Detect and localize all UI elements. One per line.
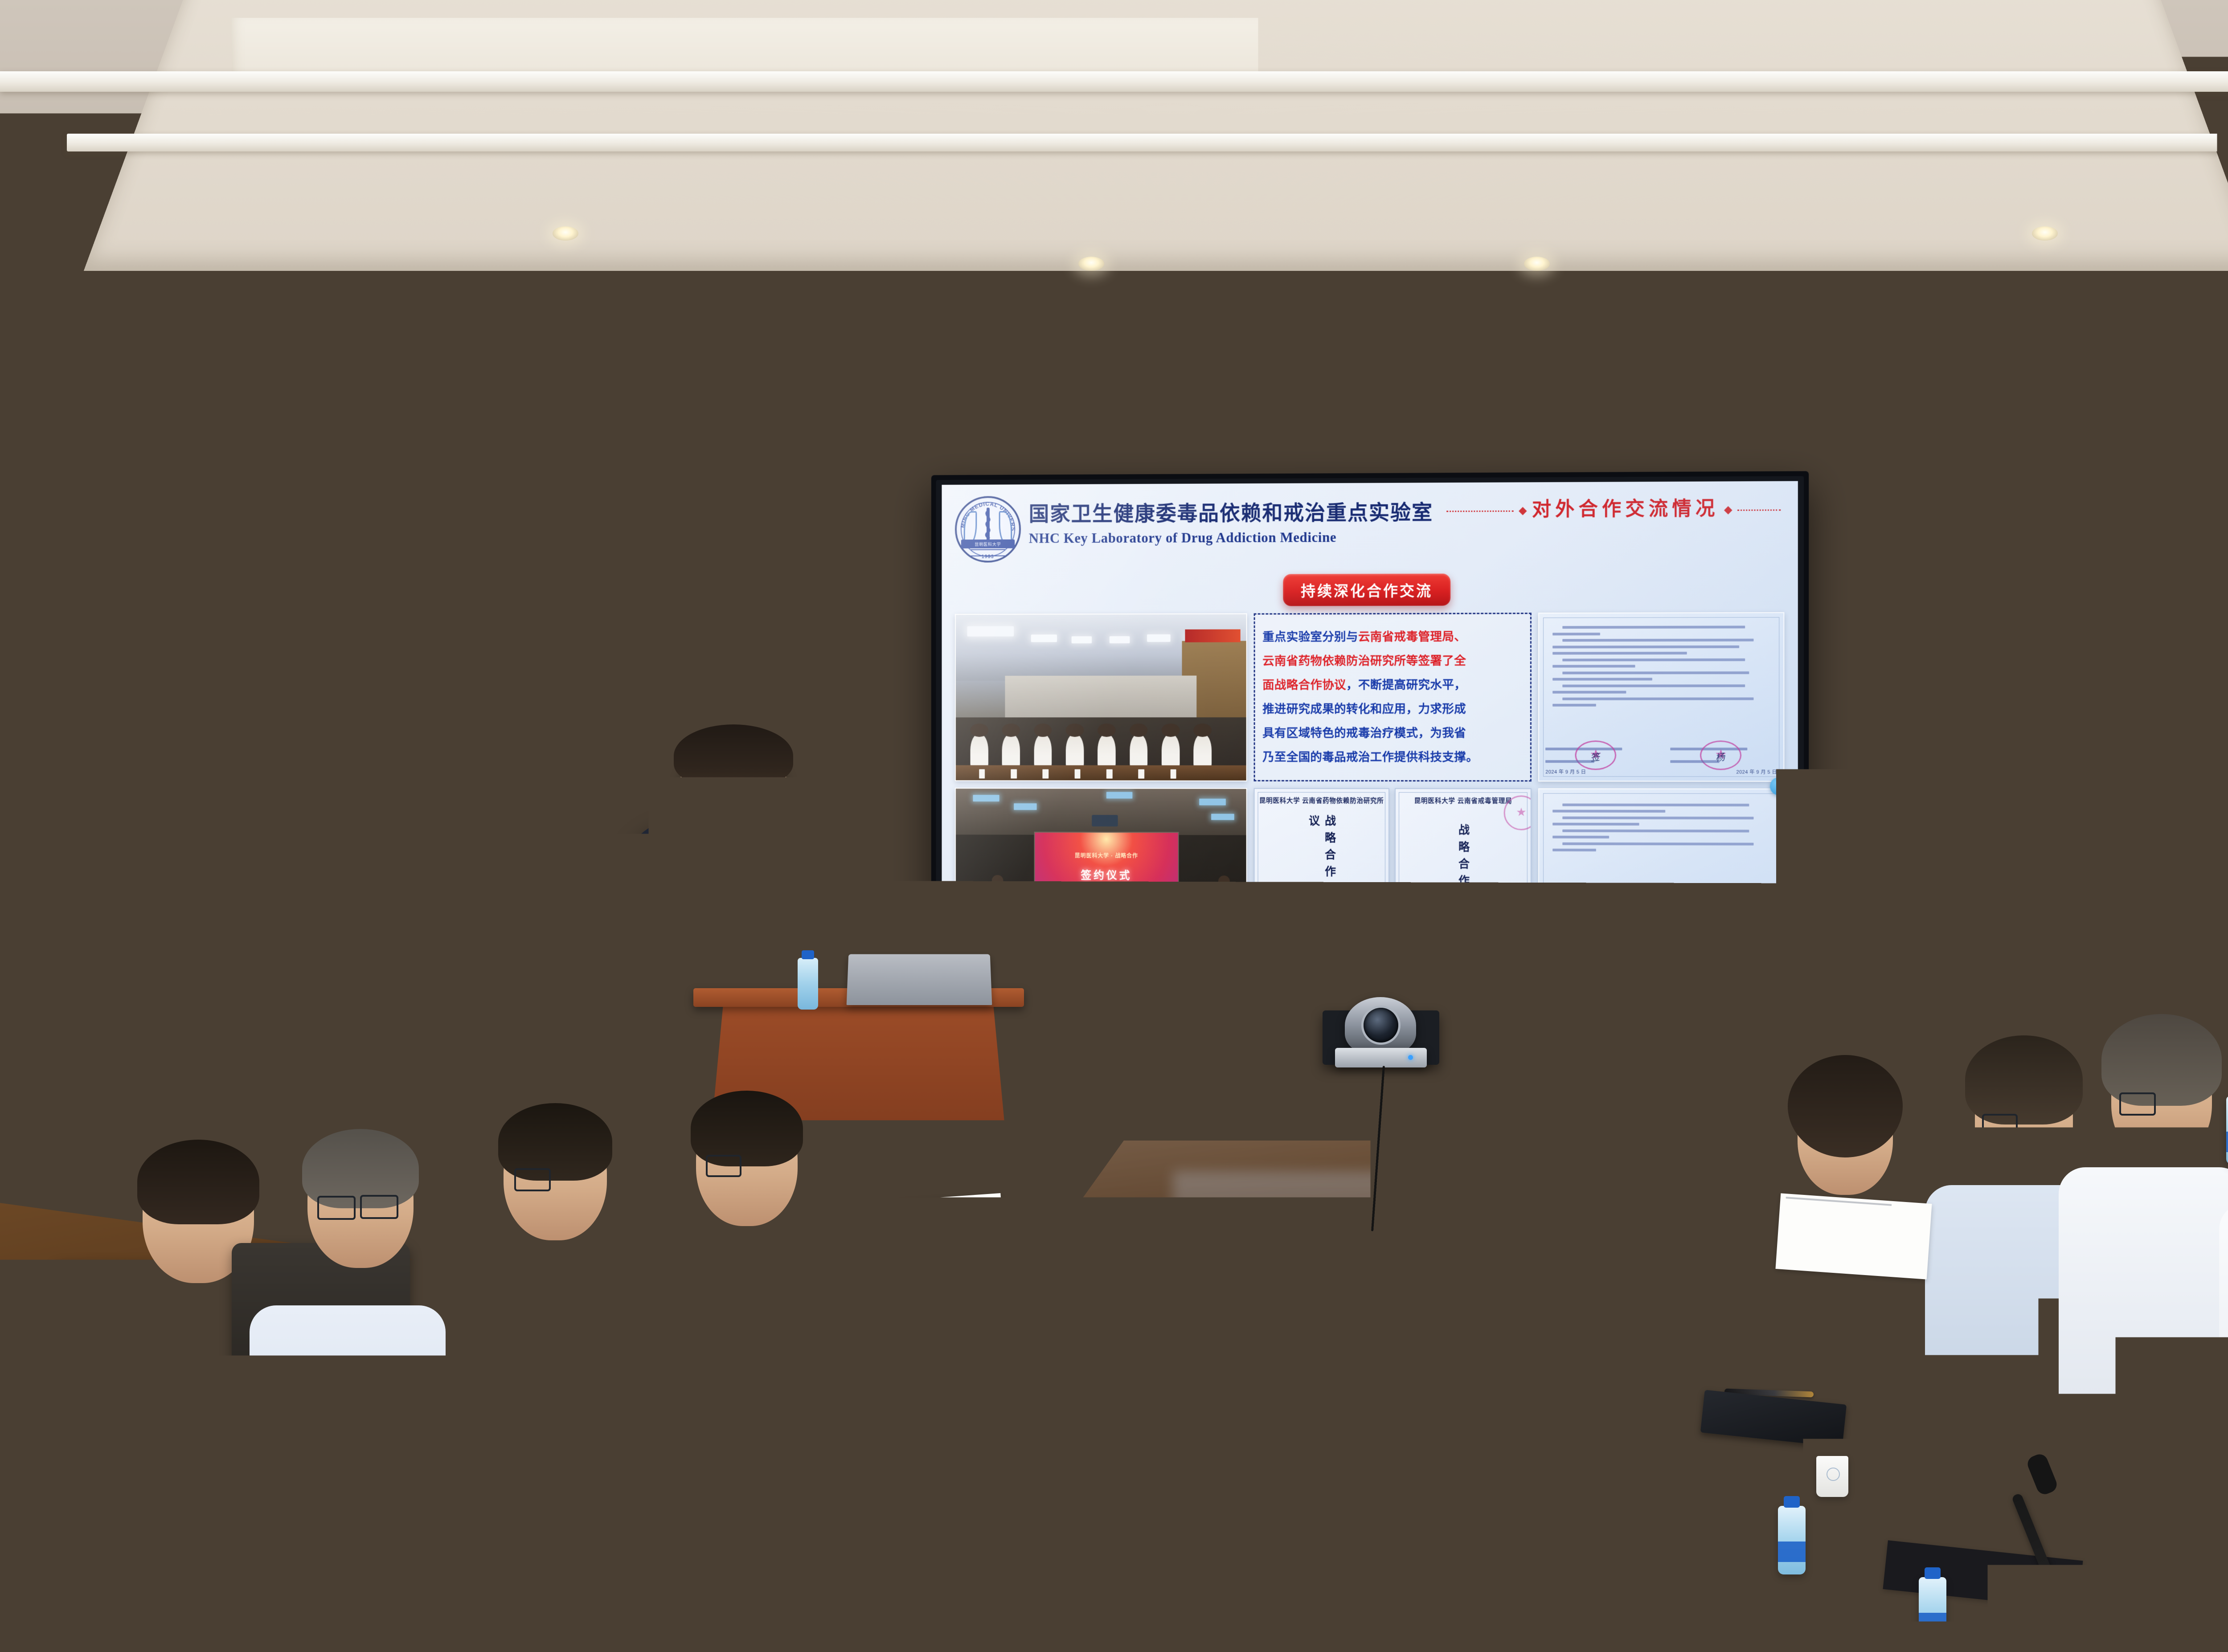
paper-cup <box>856 1558 888 1599</box>
water-bottle <box>1012 1461 1039 1530</box>
crown-molding <box>0 71 2228 92</box>
paper-cup <box>1657 1331 1689 1372</box>
eyeglasses-icon <box>514 1168 551 1191</box>
presenter-eye <box>748 793 761 798</box>
document-sheet <box>845 1193 1006 1284</box>
doc1-date-b: 2024 年 9 月 5 日 <box>1736 768 1777 775</box>
rack-status-led <box>187 1118 192 1124</box>
seal-banner-text: 昆明医科大学 <box>961 540 1015 548</box>
microphone-base <box>2048 1627 2098 1645</box>
official-seal-stamp <box>1700 916 1741 946</box>
photo-signing-ceremony: 昆明医科大学 · 战略合作 签约仪式 2024.1.24 <box>955 788 1247 956</box>
signed-agreement-scan-1: 签 杨 2024 年 9 月 5 日 2024 年 9 月 5 日 <box>1538 612 1784 781</box>
speaker-brand-badge <box>494 467 511 474</box>
ceiling-downlight <box>1524 257 1550 271</box>
presenter-hair <box>674 724 793 788</box>
presenter-eyebrow <box>745 780 765 783</box>
presenter-eyebrow <box>700 781 720 785</box>
slide-page-badge: 1 <box>1770 777 1788 795</box>
decorative-dotted-line <box>1737 509 1781 511</box>
party-b-signature-block: 杨 <box>1670 748 1777 763</box>
body-line-6: 乃至全国的毒品戒治工作提供科技支撑。 <box>1262 749 1523 766</box>
microphone-status-led <box>831 1438 836 1443</box>
crown-molding <box>192 209 2228 233</box>
led-presentation-display[interactable]: KUNMING MEDICAL UNIVERSITY 昆明医科大学 1933 <box>931 471 1809 1001</box>
microphone-base <box>1583 1426 1633 1443</box>
slide-section-title: 对外合作交流情况 <box>1532 493 1719 522</box>
paper-cup <box>1816 1456 1848 1497</box>
pen <box>896 1353 976 1365</box>
ceiling-projector-icon <box>1092 815 1118 826</box>
camera-base <box>1335 1048 1427 1067</box>
eyeglasses-icon <box>706 1155 741 1177</box>
ceremony-screen-orgs: 昆明医科大学 · 战略合作 <box>1043 852 1169 860</box>
display-brand-label: Absen Icon <box>1343 987 1391 996</box>
conference-room-scene: KUNMING MEDICAL UNIVERSITY 昆明医科大学 1933 <box>0 0 2228 1652</box>
presenter-ear <box>672 787 687 812</box>
ceiling-downlight <box>2032 226 2058 241</box>
presenter-mouth <box>724 832 750 843</box>
microphone-status-led <box>1869 1427 1873 1432</box>
camera-status-led <box>1408 1055 1413 1060</box>
ceremony-screen-title: 签约仪式 <box>1043 867 1169 883</box>
microphone-base <box>1031 1343 1081 1361</box>
camera-lens-icon <box>1364 1008 1398 1043</box>
microphone-base <box>815 1532 864 1550</box>
seal-year: 1933 <box>955 554 1021 559</box>
slide-content-grid: 重点实验室分别与云南省戒毒管理局、 云南省药物依赖防治研究所等签署了全 面战略合… <box>955 612 1784 958</box>
water-bottle <box>1168 1277 1196 1345</box>
presentation-slide: KUNMING MEDICAL UNIVERSITY 昆明医科大学 1933 <box>942 481 1798 985</box>
water-bottle <box>1919 1577 1946 1646</box>
microphone-status-led <box>1608 1352 1612 1356</box>
agreement-cover-2: 昆明医科大学 云南省戒毒管理局 战略合作协议 2024 年 9 月 <box>1395 788 1532 957</box>
presenter-laptop-base[interactable] <box>841 1002 998 1011</box>
body-line-3: 面战略合作协议，不断提高研究水平， <box>1262 676 1523 693</box>
rack-display-panel <box>147 1116 176 1125</box>
ceremony-screen-date: 2024.1.24 <box>1035 891 1178 898</box>
party-a-signature-block: 同 <box>1545 923 1652 938</box>
crown-molding <box>312 281 2228 296</box>
cardboard-box <box>285 815 397 858</box>
eyeglasses-icon <box>2119 1092 2156 1116</box>
slide-org-title-cn: 国家卫生健康委毒品依赖和戒治重点实验室 <box>1029 499 1433 526</box>
decorative-dotted-line <box>1446 511 1514 512</box>
body-line-2: 云南省药物依赖防治研究所等签署了全 <box>1262 652 1523 669</box>
presenter-eye <box>703 795 717 800</box>
body-line-4: 推进研究成果的转化和应用，力求形成 <box>1262 701 1523 718</box>
slide-org-title-en: NHC Key Laboratory of Drug Addiction Med… <box>1029 529 1433 547</box>
left-wall <box>0 312 147 1247</box>
slide-body-text-card: 重点实验室分别与云南省戒毒管理局、 云南省药物依赖防治研究所等签署了全 面战略合… <box>1253 613 1532 781</box>
photo-conference-audience <box>955 613 1247 781</box>
body-line-1: 重点实验室分别与云南省戒毒管理局、 <box>1262 628 1523 646</box>
signed-agreement-scan-2: 同 2024 年 1 月 24 日 2024 年 1 月 24 日 <box>1538 788 1784 958</box>
doc2-date-b: 2024 年 1 月 24 日 <box>1733 944 1777 951</box>
doc1-date-a: 2024 年 9 月 5 日 <box>1545 768 1586 775</box>
doc2-date-a: 2024 年 1 月 24 日 <box>1545 943 1589 950</box>
eyeglasses-icon <box>1982 1114 2018 1136</box>
cover2-title: 战略合作协议 <box>1455 824 1471 926</box>
presenter-laptop-screen[interactable] <box>847 954 992 1005</box>
microphone-base <box>935 1434 985 1452</box>
speaker-mount-bracket <box>449 395 481 421</box>
cover1-title: 战略合作框架协议 <box>1306 814 1338 934</box>
ceiling-downlight <box>205 249 231 264</box>
diamond-bullet-icon <box>1724 506 1732 515</box>
eyeglasses-icon <box>360 1195 398 1219</box>
cover1-date: 2024 年 1 月 <box>1254 939 1388 948</box>
wall-speaker-left <box>333 414 525 517</box>
water-bottle <box>1778 1506 1806 1574</box>
water-bottle <box>2226 1096 2228 1165</box>
ceiling-downlight <box>1078 257 1104 271</box>
microphone-base <box>1845 1518 1895 1536</box>
eyeglasses-icon <box>317 1196 356 1220</box>
paper-cup <box>1910 1485 1942 1526</box>
podium-nameplate <box>840 1019 882 1035</box>
diamond-bullet-icon <box>1519 507 1527 515</box>
presentation-screen: KUNMING MEDICAL UNIVERSITY 昆明医科大学 1933 <box>942 481 1798 985</box>
paper-cup <box>969 1339 1001 1380</box>
slide-header: KUNMING MEDICAL UNIVERSITY 昆明医科大学 1933 <box>955 493 1784 574</box>
document-sheet <box>1775 1193 1932 1279</box>
crown-molding <box>67 134 2228 151</box>
rack-status-led <box>199 1118 204 1124</box>
kunming-medical-university-seal-icon: KUNMING MEDICAL UNIVERSITY 昆明医科大学 1933 <box>955 496 1021 563</box>
ceiling-downlight <box>553 226 578 241</box>
microphone-base <box>1546 1347 1596 1365</box>
party-b-signature-block <box>1670 923 1777 939</box>
agreement-cover-1: 昆明医科大学 云南省药物依赖防治研究所 战略合作框架协议 2024 年 1 月 <box>1253 788 1389 956</box>
cover1-org: 昆明医科大学 云南省药物依赖防治研究所 <box>1254 795 1388 805</box>
body-line-5: 具有区域特色的戒毒治疗模式，为我省 <box>1262 725 1523 742</box>
party-a-signature-block: 签 <box>1545 748 1652 763</box>
slide-topic-pill: 持续深化合作交流 <box>1283 573 1450 606</box>
